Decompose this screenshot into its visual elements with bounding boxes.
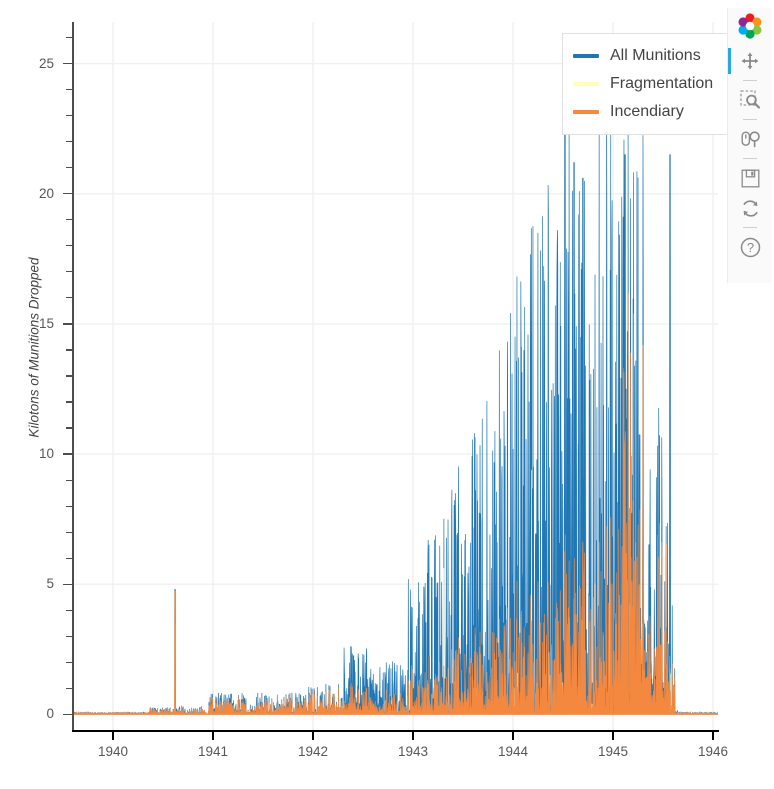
y-tick-minor bbox=[66, 219, 72, 220]
x-tick-major bbox=[712, 731, 713, 740]
y-tick-minor bbox=[66, 245, 72, 246]
legend-label-fragmentation: Fragmentation bbox=[610, 75, 713, 93]
x-tick-major bbox=[212, 731, 213, 740]
toolbar-divider bbox=[743, 227, 757, 228]
toolbar-divider bbox=[743, 158, 757, 159]
x-tick-label: 1942 bbox=[283, 745, 343, 759]
legend-item-fragmentation[interactable]: Fragmentation bbox=[573, 70, 713, 98]
legend[interactable]: All Munitions Fragmentation Incendiary bbox=[562, 33, 728, 135]
y-tick-minor bbox=[66, 349, 72, 350]
wheel-zoom-tool[interactable] bbox=[728, 124, 772, 154]
toolbar-divider bbox=[743, 80, 757, 81]
x-tick-label: 1940 bbox=[83, 745, 143, 759]
y-axis-line bbox=[72, 22, 74, 730]
y-tick-minor bbox=[66, 636, 72, 637]
svg-text:?: ? bbox=[746, 240, 753, 255]
x-tick-label: 1943 bbox=[383, 745, 443, 759]
legend-label-all-munitions: All Munitions bbox=[610, 47, 701, 65]
y-tick-major bbox=[63, 453, 72, 454]
pan-tool[interactable] bbox=[728, 46, 772, 76]
y-axis-title: Kilotons of Munitions Dropped bbox=[27, 208, 42, 488]
x-tick-label: 1946 bbox=[683, 745, 743, 759]
y-tick-minor bbox=[66, 610, 72, 611]
save-tool[interactable] bbox=[728, 163, 772, 193]
x-tick-label: 1945 bbox=[583, 745, 643, 759]
legend-item-all-munitions[interactable]: All Munitions bbox=[573, 42, 713, 70]
y-tick-major bbox=[63, 63, 72, 64]
y-tick-label: 5 bbox=[8, 577, 54, 591]
x-tick-major bbox=[112, 731, 113, 740]
y-tick-label: 20 bbox=[8, 187, 54, 201]
y-tick-minor bbox=[66, 271, 72, 272]
y-tick-major bbox=[63, 193, 72, 194]
y-tick-minor bbox=[66, 37, 72, 38]
y-tick-major bbox=[63, 323, 72, 324]
plot-toolbar[interactable]: ? bbox=[727, 8, 772, 283]
x-tick-major bbox=[612, 731, 613, 740]
y-tick-minor bbox=[66, 115, 72, 116]
y-tick-label: 25 bbox=[8, 57, 54, 71]
y-tick-minor bbox=[66, 375, 72, 376]
legend-swatch-fragmentation bbox=[573, 82, 599, 86]
x-tick-major bbox=[312, 731, 313, 740]
box-zoom-tool[interactable] bbox=[728, 85, 772, 115]
y-tick-minor bbox=[66, 506, 72, 507]
y-tick-minor bbox=[66, 688, 72, 689]
reset-tool[interactable] bbox=[728, 193, 772, 223]
y-tick-minor bbox=[66, 401, 72, 402]
y-tick-minor bbox=[66, 532, 72, 533]
bokeh-plot-root: 0510152025 1940194119421943194419451946 … bbox=[0, 0, 774, 789]
legend-swatch-incendiary bbox=[573, 110, 599, 114]
y-tick-minor bbox=[66, 558, 72, 559]
x-tick-label: 1941 bbox=[183, 745, 243, 759]
legend-swatch-all-munitions bbox=[573, 54, 599, 58]
x-tick-major bbox=[412, 731, 413, 740]
y-tick-minor bbox=[66, 141, 72, 142]
x-axis-line bbox=[72, 730, 719, 732]
bokeh-logo-icon[interactable] bbox=[728, 8, 772, 44]
help-tool[interactable]: ? bbox=[728, 232, 772, 262]
y-tick-minor bbox=[66, 427, 72, 428]
y-tick-major bbox=[63, 584, 72, 585]
legend-item-incendiary[interactable]: Incendiary bbox=[573, 98, 713, 126]
x-tick-major bbox=[512, 731, 513, 740]
y-tick-minor bbox=[66, 662, 72, 663]
y-tick-major bbox=[63, 714, 72, 715]
y-tick-minor bbox=[66, 480, 72, 481]
toolbar-divider bbox=[743, 119, 757, 120]
x-tick-label: 1944 bbox=[483, 745, 543, 759]
y-tick-minor bbox=[66, 297, 72, 298]
y-tick-minor bbox=[66, 167, 72, 168]
legend-label-incendiary: Incendiary bbox=[610, 103, 684, 121]
y-tick-minor bbox=[66, 89, 72, 90]
y-tick-label: 0 bbox=[8, 707, 54, 721]
